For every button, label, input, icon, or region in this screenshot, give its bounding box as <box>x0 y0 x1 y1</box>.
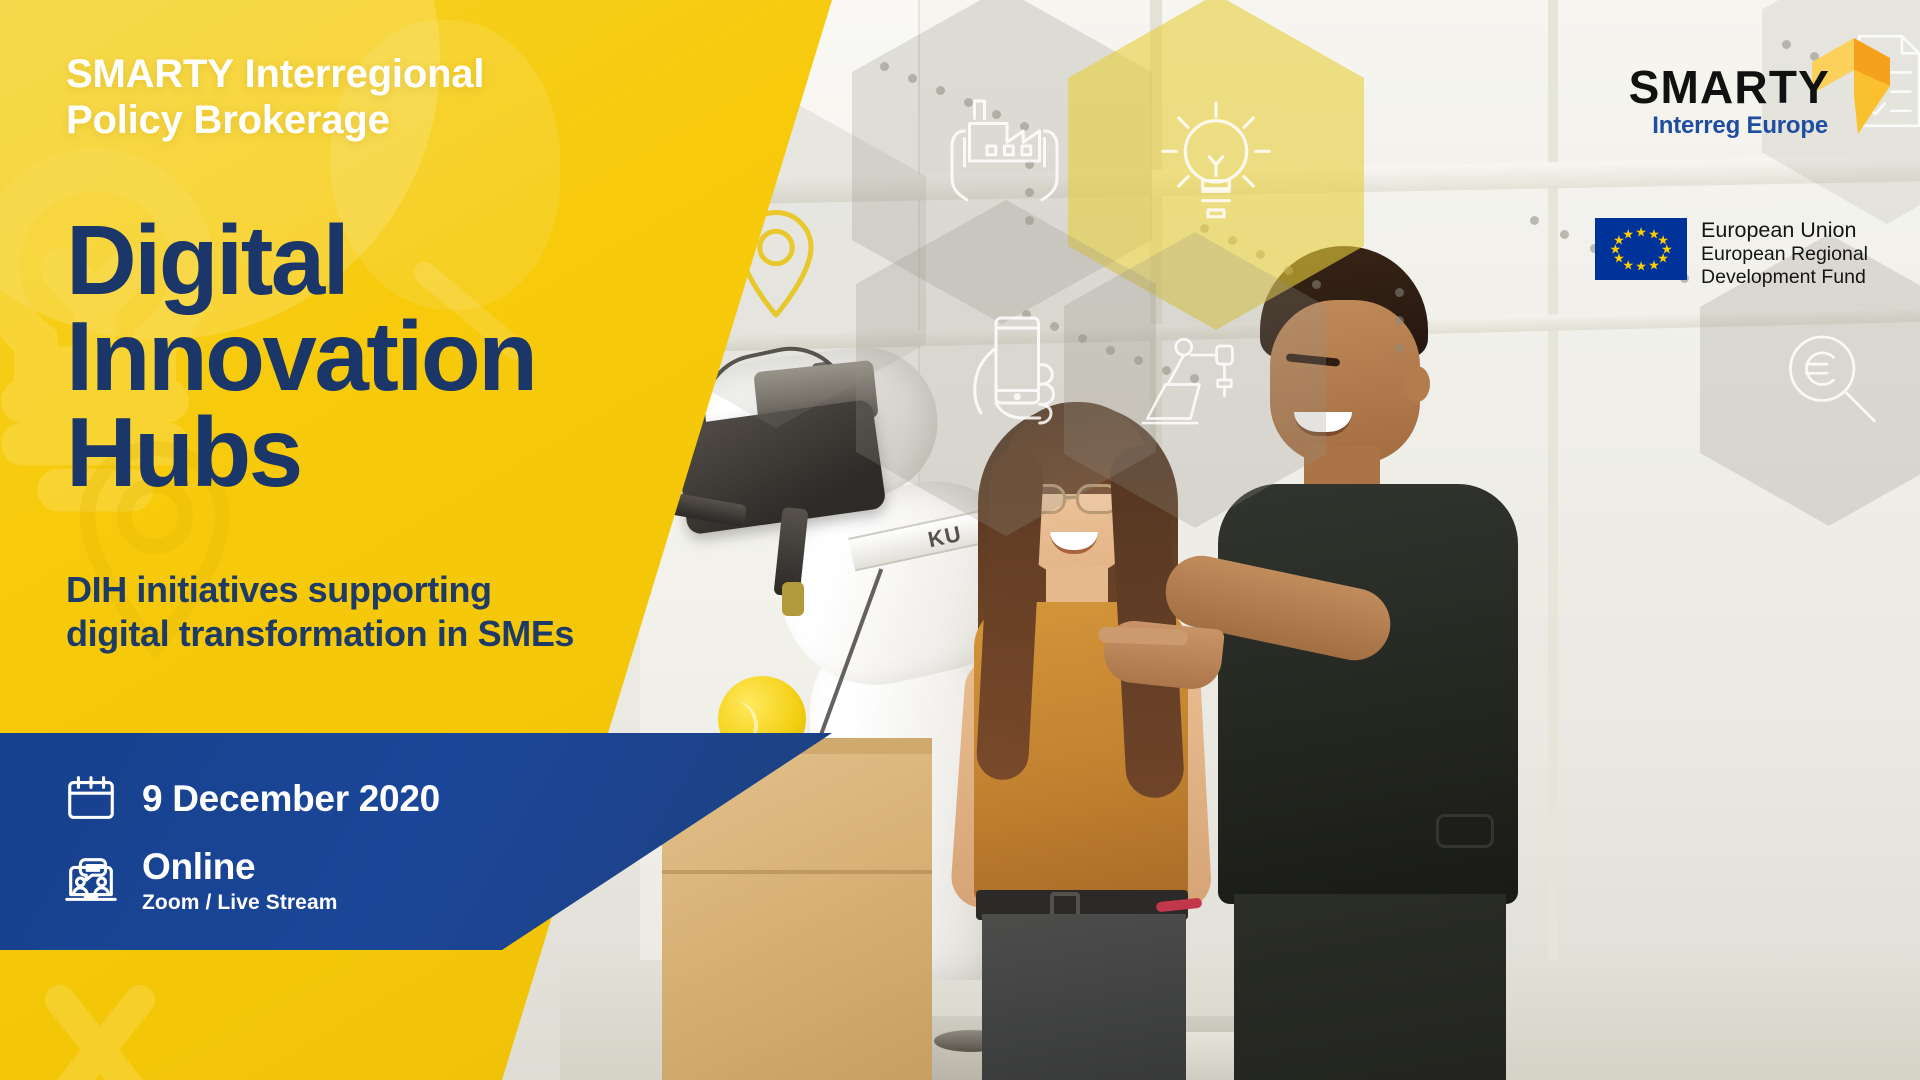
face <box>1270 300 1420 464</box>
gripper-tip <box>782 582 804 616</box>
calendar-icon <box>62 770 120 828</box>
fingers <box>1098 626 1189 645</box>
subtitle-line-1: DIH initiatives supporting <box>66 568 574 612</box>
decorative-x-watermark-icon <box>30 980 230 1080</box>
ear <box>1404 366 1430 402</box>
event-date-label: 9 December 2020 <box>142 780 440 819</box>
eu-line-2: European Regional <box>1701 243 1868 266</box>
jeans <box>982 914 1186 1080</box>
person-man <box>1190 246 1610 1080</box>
title-line-1: Digital <box>66 212 535 308</box>
europe-light: Europe <box>1740 112 1828 139</box>
subtitle-line-2: digital transformation in SMEs <box>66 612 574 656</box>
kicker-heading: SMARTY Interregional Policy Brokerage <box>66 52 484 143</box>
eu-line-1: European Union <box>1701 218 1868 243</box>
cardboard-box-seam <box>662 870 932 874</box>
event-location-row: Online Zoom / Live Stream <box>62 848 338 915</box>
person-woman <box>930 398 1230 1080</box>
kicker-brand: SMARTY <box>66 52 234 96</box>
title-line-2: Innovation <box>66 308 535 404</box>
kicker-line2: Policy Brokerage <box>66 98 390 142</box>
event-banner: KU <box>0 0 1920 1080</box>
smarty-programme-label: Interreg Europe <box>1652 112 1828 140</box>
page-subtitle: DIH initiatives supporting digital trans… <box>66 568 574 656</box>
eu-flag-icon: ★ ★ ★ ★ ★ ★ ★ ★ ★ ★ ★ ★ <box>1595 218 1687 280</box>
event-date-row: 9 December 2020 <box>62 770 440 828</box>
eu-funding-text: European Union European Regional Develop… <box>1701 218 1868 289</box>
event-location-label: Online <box>142 848 338 887</box>
page-title: Digital Innovation Hubs <box>66 212 535 500</box>
kicker-rest: Interregional <box>234 52 485 96</box>
smarty-logo: SMARTY Interreg Europe <box>1594 40 1894 146</box>
eyeglasses-bridge <box>1066 496 1078 499</box>
trousers <box>1234 894 1506 1080</box>
eu-line-3: Development Fund <box>1701 266 1868 289</box>
event-location-sublabel: Zoom / Live Stream <box>142 891 338 915</box>
eu-funding-logo: ★ ★ ★ ★ ★ ★ ★ ★ ★ ★ ★ ★ European Union E… <box>1595 218 1868 289</box>
webinar-icon <box>62 852 120 910</box>
title-line-3: Hubs <box>66 404 535 500</box>
interreg-bold: Interreg <box>1652 112 1740 139</box>
smarty-wordmark: SMARTY <box>1629 60 1830 114</box>
logo-block: SMARTY Interreg Europe ★ ★ ★ ★ ★ ★ ★ ★ ★… <box>1594 40 1894 146</box>
wristwatch <box>1436 814 1494 848</box>
